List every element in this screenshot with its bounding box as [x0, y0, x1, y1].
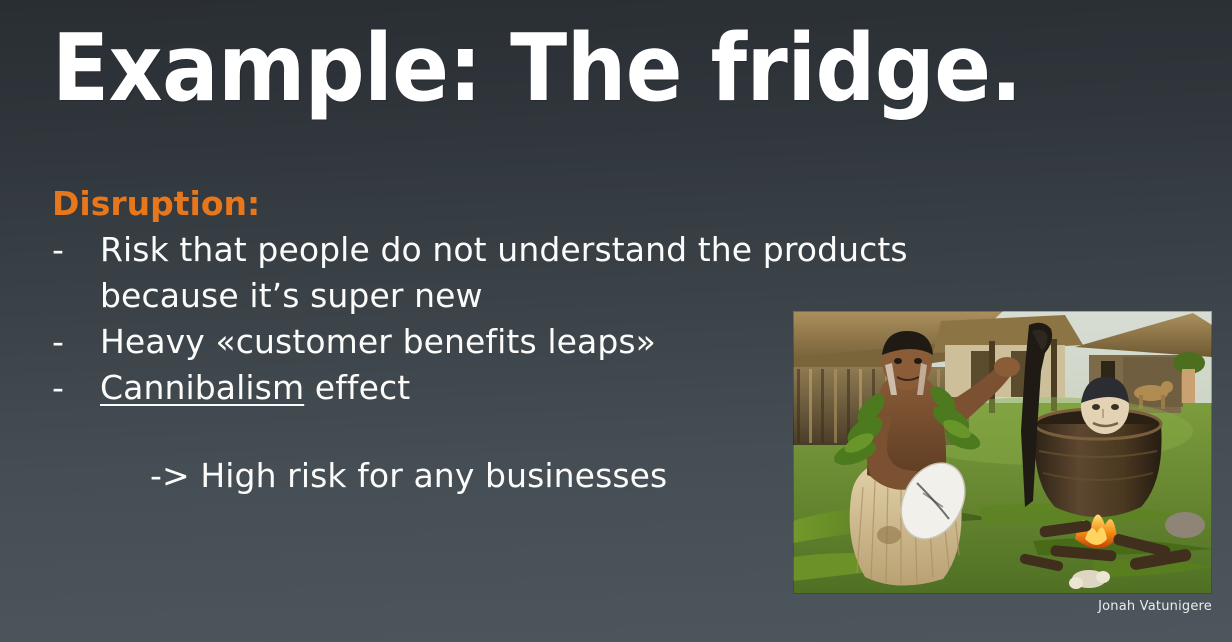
list-item-label: Risk that people do not understand the p… [100, 227, 1052, 319]
underlined-term: Cannibalism [100, 368, 304, 407]
photo-caption: Jonah Vatunigere [1098, 599, 1212, 614]
list-item-suffix: effect [304, 368, 410, 407]
list-item: - Risk that people do not understand the… [52, 227, 1052, 319]
section-heading: Disruption: [52, 182, 1052, 226]
page-title: Example: The fridge. [52, 18, 1152, 118]
bullet-marker: - [52, 227, 100, 273]
photo-image [793, 311, 1212, 594]
bullet-marker: - [52, 365, 100, 411]
bullet-marker: - [52, 319, 100, 365]
slide: Example: The fridge. Disruption: - Risk … [0, 0, 1232, 642]
photo-illustration [793, 311, 1212, 594]
